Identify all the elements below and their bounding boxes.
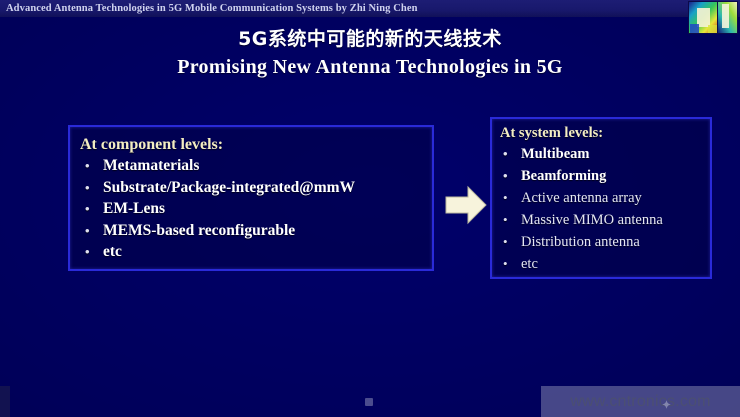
- component-level-item-label: etc: [103, 241, 122, 263]
- page-title-english: Promising New Antenna Technologies in 5G: [0, 54, 740, 80]
- component-level-item-label: Metamaterials: [103, 155, 199, 177]
- system-level-item-label: Distribution antenna: [521, 231, 640, 253]
- system-levels-heading: At system levels:: [500, 124, 702, 143]
- component-level-item-label: MEMS-based reconfigurable: [103, 220, 295, 242]
- bullet-dot-icon: •: [80, 198, 103, 220]
- bullet-dot-icon: •: [80, 155, 103, 177]
- bullet-dot-icon: •: [80, 177, 103, 199]
- bullet-dot-icon: •: [500, 165, 521, 187]
- component-level-item: •MEMS-based reconfigurable: [80, 220, 422, 242]
- system-level-item: •Beamforming: [500, 165, 702, 187]
- bullet-dot-icon: •: [500, 209, 521, 231]
- watermark-bar: www.cntronics.com: [541, 386, 740, 417]
- component-level-item: •EM-Lens: [80, 198, 422, 220]
- component-level-item-label: Substrate/Package-integrated@mmW: [103, 177, 355, 199]
- component-level-item: •Metamaterials: [80, 155, 422, 177]
- component-levels-heading: At component levels:: [80, 134, 422, 155]
- system-level-item-label: Beamforming: [521, 165, 606, 187]
- slide-title-block: 5G系统中可能的新的天线技术 Promising New Antenna Tec…: [0, 27, 740, 80]
- bullet-dot-icon: •: [500, 143, 521, 165]
- system-level-item-label: etc: [521, 253, 538, 275]
- system-level-item: •etc: [500, 253, 702, 275]
- system-level-item: •Active antenna array: [500, 187, 702, 209]
- system-level-item-label: Multibeam: [521, 143, 589, 165]
- system-level-item: •Massive MIMO antenna: [500, 209, 702, 231]
- watermark-logo-icon: [662, 396, 671, 405]
- system-levels-list: •Multibeam•Beamforming•Active antenna ar…: [500, 143, 702, 275]
- component-level-item: •Substrate/Package-integrated@mmW: [80, 177, 422, 199]
- slide-canvas: Advanced Antenna Technologies in 5G Mobi…: [0, 0, 740, 417]
- component-levels-box: At component levels: •Metamaterials•Subs…: [68, 125, 434, 271]
- bullet-dot-icon: •: [80, 241, 103, 263]
- page-title-chinese: 5G系统中可能的新的天线技术: [0, 27, 740, 52]
- bullet-dot-icon: •: [80, 220, 103, 242]
- bullet-dot-icon: •: [500, 253, 521, 275]
- system-level-item: •Multibeam: [500, 143, 702, 165]
- presentation-title-header: Advanced Antenna Technologies in 5G Mobi…: [6, 2, 418, 15]
- system-levels-box: At system levels: •Multibeam•Beamforming…: [490, 117, 712, 279]
- component-levels-list: •Metamaterials•Substrate/Package-integra…: [80, 155, 422, 263]
- watermark-text: www.cntronics.com: [541, 391, 740, 412]
- system-level-item-label: Active antenna array: [521, 187, 642, 209]
- system-level-item-label: Massive MIMO antenna: [521, 209, 663, 231]
- right-arrow-icon: [443, 182, 489, 228]
- slide-header-band: Advanced Antenna Technologies in 5G Mobi…: [0, 0, 740, 17]
- system-level-item: •Distribution antenna: [500, 231, 702, 253]
- bullet-dot-icon: •: [500, 231, 521, 253]
- component-level-item-label: EM-Lens: [103, 198, 165, 220]
- component-level-item: •etc: [80, 241, 422, 263]
- bullet-dot-icon: •: [500, 187, 521, 209]
- page-marker: [365, 398, 373, 406]
- left-edge-strip: [0, 386, 10, 417]
